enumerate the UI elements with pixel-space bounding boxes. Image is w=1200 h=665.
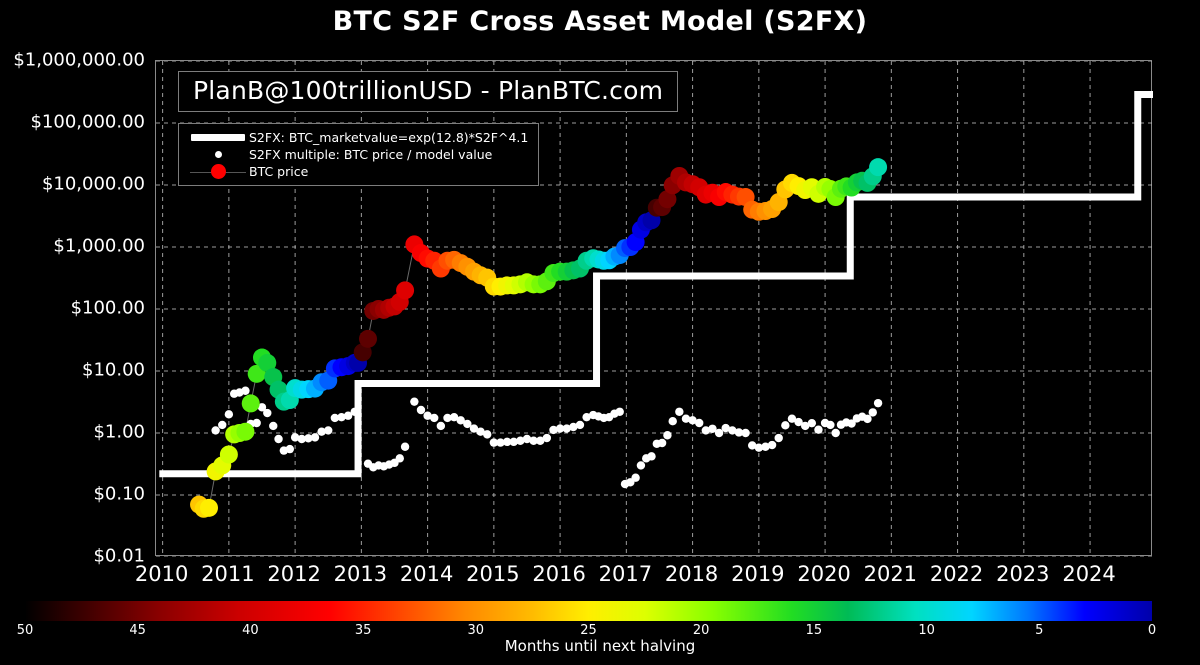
- x-axis-tick-label: 2021: [864, 562, 917, 586]
- legend-label-multiple: S2FX multiple: BTC price / model value: [249, 147, 492, 162]
- colorbar-tick-label: 40: [242, 623, 259, 638]
- legend-label-price: BTC price: [249, 164, 308, 179]
- y-axis-tick-label: $1.00: [93, 422, 145, 443]
- legend-item-price: BTC price: [187, 163, 528, 180]
- colorbar-tick-label: 0: [1148, 623, 1156, 638]
- colorbar-label: Months until next halving: [0, 637, 1200, 655]
- y-axis-tick-label: $10,000.00: [42, 174, 145, 195]
- colorbar-gradient: [25, 601, 1152, 621]
- colorbar-tick-label: 5: [1035, 623, 1043, 638]
- colorbar-tick-label: 15: [806, 623, 823, 638]
- x-axis-tick-label: 2014: [400, 562, 453, 586]
- legend-item-multiple: S2FX multiple: BTC price / model value: [187, 146, 528, 163]
- chart-legend: S2FX: BTC_marketvalue=exp(12.8)*S2F^4.1 …: [178, 123, 539, 186]
- y-axis-tick-label: $1,000,000.00: [13, 50, 145, 71]
- colorbar-tick-label: 10: [918, 623, 935, 638]
- y-axis-tick-label: $0.10: [93, 484, 145, 505]
- x-axis-tick-label: 2017: [599, 562, 652, 586]
- x-axis-tick-label: 2020: [797, 562, 850, 586]
- page-title: BTC S2F Cross Asset Model (S2FX): [0, 6, 1200, 37]
- x-axis-tick-label: 2013: [334, 562, 387, 586]
- chart-root: BTC S2F Cross Asset Model (S2FX) PlanB@1…: [0, 0, 1200, 665]
- colorbar-tick-label: 45: [129, 623, 146, 638]
- legend-dot-swatch-icon: [187, 151, 249, 158]
- x-axis-tick-label: 2019: [731, 562, 784, 586]
- x-axis-tick-label: 2011: [201, 562, 254, 586]
- plot-area: PlanB@100trillionUSD - PlanBTC.com S2FX:…: [155, 60, 1152, 556]
- y-axis-tick-label: $100,000.00: [30, 112, 145, 133]
- x-axis-tick-label: 2016: [532, 562, 585, 586]
- colorbar-tick-label: 25: [580, 623, 597, 638]
- x-axis-tick-label: 2015: [466, 562, 519, 586]
- colorbar-tick-label: 30: [468, 623, 485, 638]
- colorbar-tick-label: 50: [17, 623, 34, 638]
- colorbar-tick-label: 20: [693, 623, 710, 638]
- y-axis-tick-label: $1,000.00: [53, 236, 145, 257]
- x-axis-tick-label: 2018: [665, 562, 718, 586]
- legend-label-model: S2FX: BTC_marketvalue=exp(12.8)*S2F^4.1: [249, 130, 528, 145]
- x-axis-tick-label: 2022: [930, 562, 983, 586]
- x-axis-tick-label: 2012: [267, 562, 320, 586]
- legend-red-dot-swatch-icon: [187, 164, 249, 179]
- legend-item-model: S2FX: BTC_marketvalue=exp(12.8)*S2F^4.1: [187, 129, 528, 146]
- y-axis-tick-label: $100.00: [71, 298, 145, 319]
- y-axis-tick-label: $10.00: [82, 360, 145, 381]
- x-axis-tick-label: 2010: [135, 562, 188, 586]
- watermark-label: PlanB@100trillionUSD - PlanBTC.com: [178, 71, 678, 112]
- x-axis-tick-label: 2024: [1062, 562, 1115, 586]
- colorbar-tick-label: 35: [355, 623, 372, 638]
- x-axis-tick-label: 2023: [996, 562, 1049, 586]
- legend-line-swatch-icon: [187, 134, 249, 141]
